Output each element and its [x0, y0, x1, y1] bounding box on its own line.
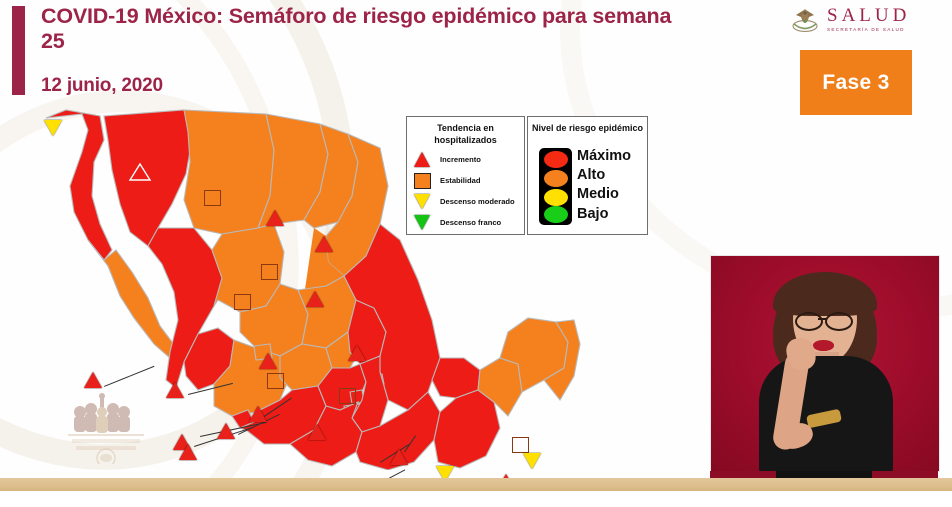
footer-gold-band [0, 478, 952, 491]
marker-triangle-up-coahuila[interactable] [266, 210, 284, 226]
title-accent-bar [12, 6, 25, 95]
marker-triangle-up-tamaulipas[interactable] [348, 345, 366, 361]
interpreter-lips [813, 340, 834, 351]
salud-logo-subtext: SECRETARÍA DE SALUD [827, 28, 910, 33]
salud-logo-text: SALUD [827, 6, 910, 25]
marker-triangle-up-colima[interactable] [179, 444, 197, 460]
page-date: 12 junio, 2020 [41, 75, 163, 97]
marker-triangle-down-baja-california[interactable] [44, 120, 62, 136]
marker-triangle-up-sinaloa[interactable] [166, 382, 184, 398]
salud-logo: SALUD SECRETARÍA DE SALUD [790, 2, 946, 36]
glasses-icon [825, 312, 853, 331]
phase-badge: Fase 3 [800, 50, 912, 115]
marker-triangle-up-aguascalientes[interactable] [217, 423, 235, 439]
sign-language-interpreter[interactable] [710, 255, 940, 472]
marker-square-chihuahua[interactable] [204, 190, 221, 206]
glasses-icon [795, 312, 823, 331]
marker-square-zacatecas[interactable] [234, 294, 251, 310]
mexican-coat-of-arms-icon [790, 5, 820, 33]
marker-triangle-up-veracruz[interactable] [390, 449, 408, 465]
marker-triangle-up-hidalgo[interactable] [308, 424, 326, 440]
marker-triangle-up-baja-california-sur[interactable] [84, 372, 102, 388]
phase-badge-label: Fase 3 [822, 71, 889, 95]
glasses-bridge [818, 318, 827, 320]
page-title: COVID-19 México: Semáforo de riesgo epid… [41, 4, 681, 54]
marker-square-durango[interactable] [261, 264, 278, 280]
footer-white-area [0, 491, 952, 507]
marker-triangle-up-jalisco[interactable] [249, 406, 267, 422]
marker-square-guanajuato[interactable] [267, 373, 284, 389]
marker-triangle-up-nuevo-leon[interactable] [315, 236, 333, 252]
video-bottom-strip [710, 471, 938, 478]
marker-triangle-outline-sonora[interactable] [128, 162, 152, 182]
presentation-slide: COVID-19 México: Semáforo de riesgo epid… [0, 0, 952, 507]
marker-triangle-up-tlaxcala[interactable] [259, 353, 277, 369]
marker-square-queretaro[interactable] [339, 388, 356, 404]
government-seal-icon [60, 392, 152, 464]
marker-triangle-up-san-luis-potosi[interactable] [306, 291, 324, 307]
marker-triangle-down-quintana-roo[interactable] [523, 453, 541, 469]
marker-square-yucatan[interactable] [512, 437, 529, 453]
